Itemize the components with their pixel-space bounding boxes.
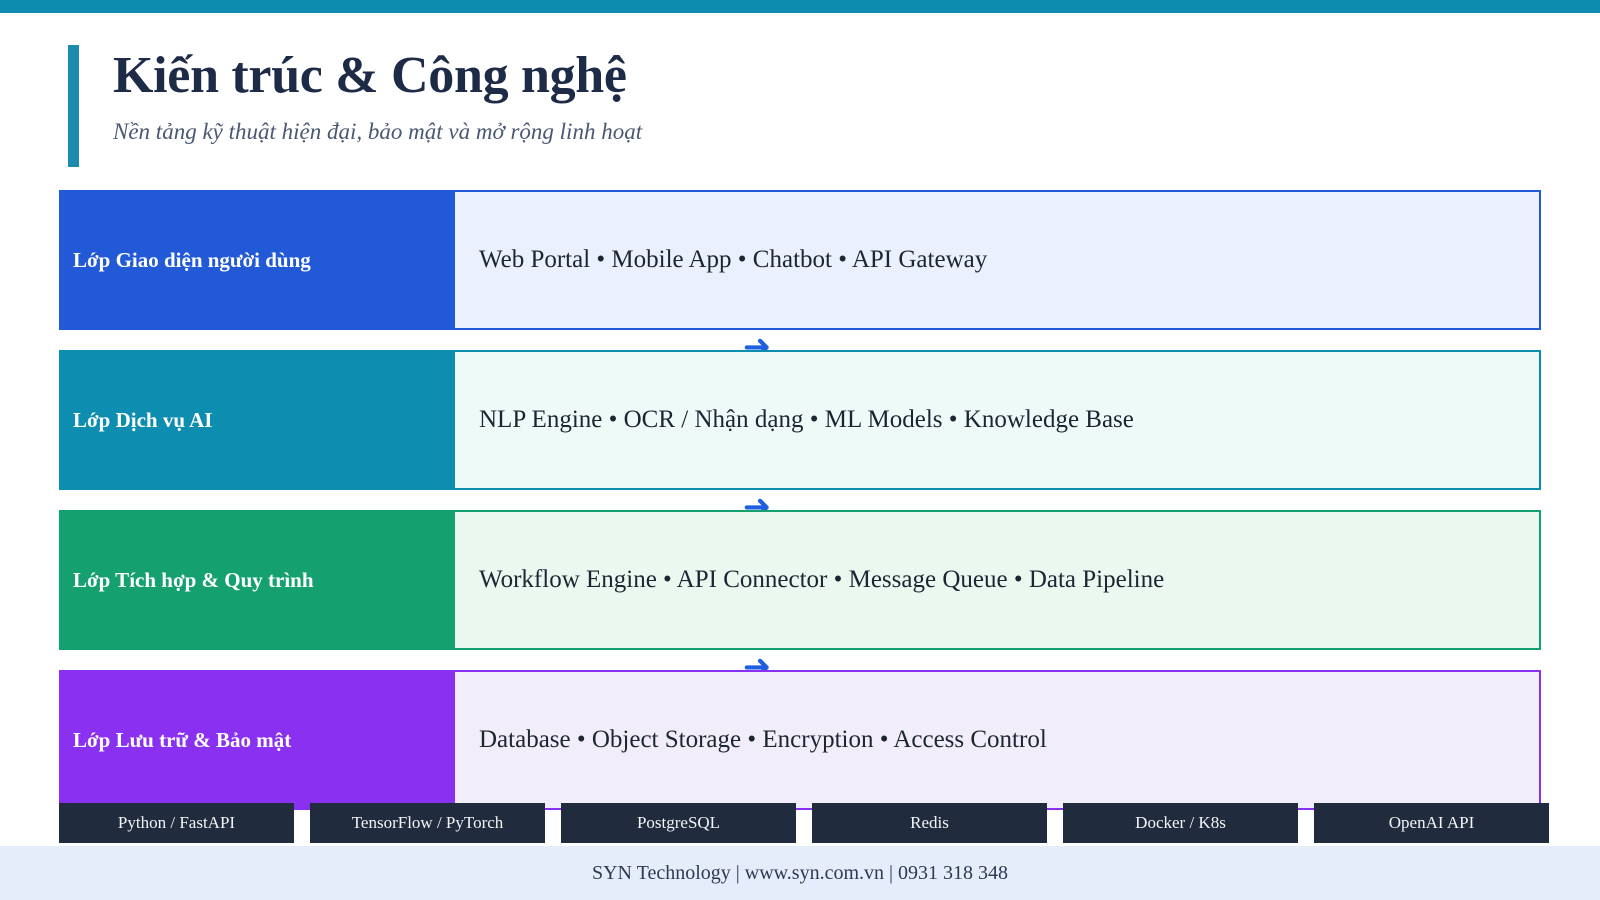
layer-label-text-integration: Lớp Tích hợp & Quy trình [73, 566, 314, 594]
top-accent-strip [0, 0, 1600, 13]
layer-content-text-integration: Workflow Engine • API Connector • Messag… [479, 563, 1164, 597]
layer-content-block-ai: NLP Engine • OCR / Nhận dạng • ML Models… [455, 350, 1541, 490]
page-title: Kiến trúc & Công nghệ [113, 43, 1513, 109]
layer-label-text-storage: Lớp Lưu trữ & Bảo mật [73, 726, 291, 754]
page-subtitle: Nền tảng kỹ thuật hiện đại, bảo mật và m… [113, 115, 1513, 149]
header-text-group: Kiến trúc & Công nghệ Nền tảng kỹ thuật … [113, 43, 1513, 149]
tech-stack-chip-row: Python / FastAPI TensorFlow / PyTorch Po… [59, 803, 1549, 843]
tech-chip: OpenAI API [1314, 803, 1549, 843]
tech-chip: Redis [812, 803, 1047, 843]
layer-content-block-storage: Database • Object Storage • Encryption •… [455, 670, 1541, 810]
architecture-layer-integration: Lớp Tích hợp & Quy trình Workflow Engine… [59, 510, 1541, 650]
layer-content-text-ai: NLP Engine • OCR / Nhận dạng • ML Models… [479, 403, 1134, 437]
layer-label-block-integration: Lớp Tích hợp & Quy trình [59, 510, 455, 650]
layer-label-block-storage: Lớp Lưu trữ & Bảo mật [59, 670, 455, 810]
layer-label-block-ai: Lớp Dịch vụ AI [59, 350, 455, 490]
layer-label-text-ui: Lớp Giao diện người dùng [73, 246, 311, 274]
tech-chip: PostgreSQL [561, 803, 796, 843]
title-accent-bar [68, 45, 79, 167]
architecture-layer-ui: Lớp Giao diện người dùng Web Portal • Mo… [59, 190, 1541, 330]
layer-label-block-ui: Lớp Giao diện người dùng [59, 190, 455, 330]
slide-header: Kiến trúc & Công nghệ Nền tảng kỹ thuật … [0, 13, 1600, 183]
layer-content-text-storage: Database • Object Storage • Encryption •… [479, 723, 1047, 757]
layer-content-block-integration: Workflow Engine • API Connector • Messag… [455, 510, 1541, 650]
tech-chip: Docker / K8s [1063, 803, 1298, 843]
footer-contact-text: SYN Technology | www.syn.com.vn | 0931 3… [592, 859, 1008, 887]
layer-content-text-ui: Web Portal • Mobile App • Chatbot • API … [479, 243, 987, 277]
tech-chip: Python / FastAPI [59, 803, 294, 843]
layer-content-block-ui: Web Portal • Mobile App • Chatbot • API … [455, 190, 1541, 330]
architecture-layer-stack: Lớp Giao diện người dùng Web Portal • Mo… [59, 190, 1541, 835]
tech-chip: TensorFlow / PyTorch [310, 803, 545, 843]
layer-label-text-ai: Lớp Dịch vụ AI [73, 406, 212, 434]
slide-footer: SYN Technology | www.syn.com.vn | 0931 3… [0, 846, 1600, 900]
architecture-layer-ai: Lớp Dịch vụ AI NLP Engine • OCR / Nhận d… [59, 350, 1541, 490]
architecture-layer-storage: Lớp Lưu trữ & Bảo mật Database • Object … [59, 670, 1541, 810]
